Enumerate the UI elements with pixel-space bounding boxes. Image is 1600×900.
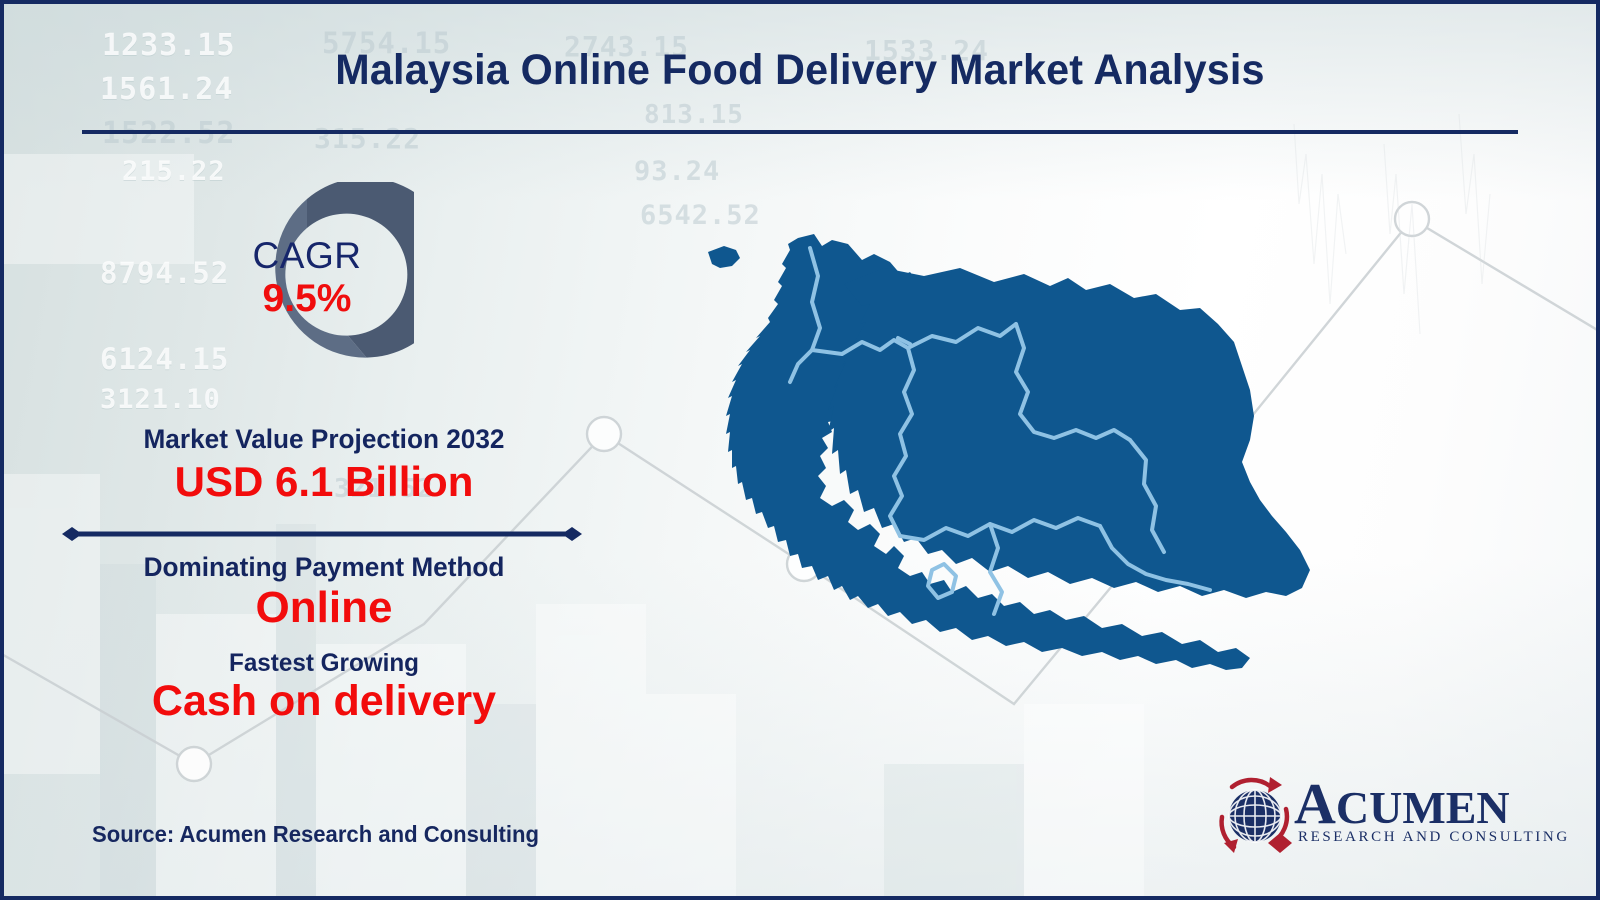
kpi-market-value-label: Market Value Projection 2032 bbox=[43, 424, 606, 454]
acumen-globe-icon bbox=[1212, 773, 1298, 859]
arrow-head-top bbox=[1268, 777, 1282, 793]
map-island-langkawi bbox=[708, 246, 740, 268]
title-underline-rule bbox=[82, 130, 1518, 134]
kpi-market-value-figure: USD 6.1 Billion bbox=[34, 459, 614, 505]
logo-wordmark-initial: A bbox=[1294, 771, 1336, 836]
donut-label: CAGR bbox=[200, 237, 414, 276]
kpi-payment-method: Dominating Payment Method Online bbox=[34, 552, 614, 633]
source-attribution: Source: Acumen Research and Consulting bbox=[92, 821, 539, 848]
map-landmass-group bbox=[708, 234, 1310, 670]
donut-value: 9.5% bbox=[200, 279, 414, 320]
page-title: Malaysia Online Food Delivery Market Ana… bbox=[36, 46, 1564, 95]
logo-wordmark-rest: CUMEN bbox=[1336, 782, 1510, 833]
infographic-canvas: 1233.15 1561.24 1522.52 215.22 5754.15 9… bbox=[0, 0, 1600, 900]
logo-wordmark: ACUMEN bbox=[1294, 775, 1510, 833]
kpi-fastest-growing-label: Fastest Growing bbox=[43, 649, 606, 677]
cagr-donut-chart: CAGR 9.5% bbox=[200, 182, 414, 396]
kpi-market-value: Market Value Projection 2032 USD 6.1 Bil… bbox=[34, 424, 614, 505]
section-divider bbox=[62, 527, 582, 541]
kpi-payment-method-figure: Online bbox=[34, 584, 614, 632]
logo-tagline: RESEARCH AND CONSULTING bbox=[1298, 829, 1570, 846]
kpi-fastest-growing: Fastest Growing Cash on delivery bbox=[34, 649, 614, 725]
acumen-logo: ACUMEN RESEARCH AND CONSULTING bbox=[1212, 769, 1512, 859]
kpi-fastest-growing-figure: Cash on delivery bbox=[34, 678, 614, 725]
kpi-payment-method-label: Dominating Payment Method bbox=[43, 552, 606, 582]
malaysia-peninsular-map bbox=[694, 224, 1334, 704]
